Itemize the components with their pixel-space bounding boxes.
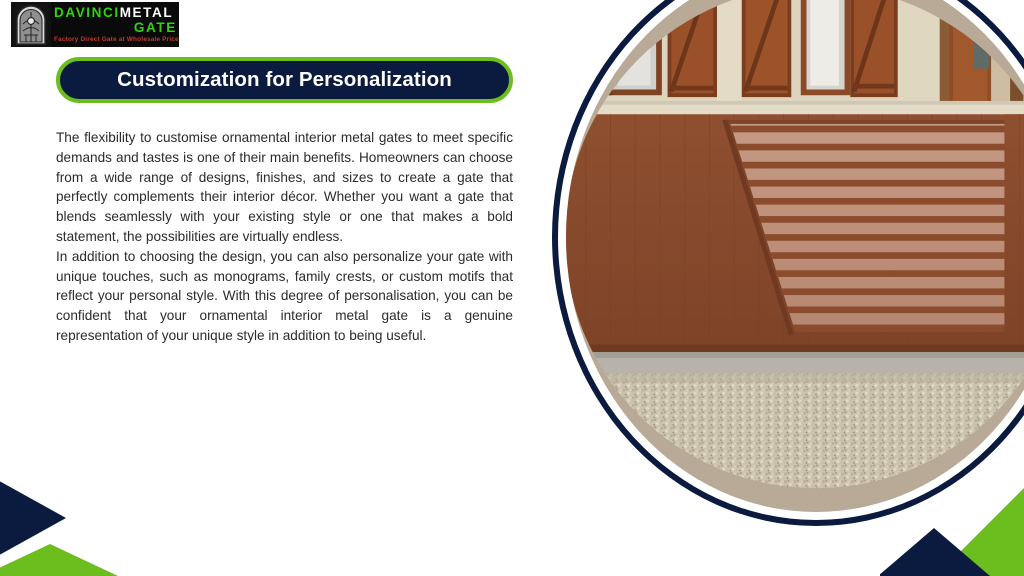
decoration-bottom-right [880,480,1024,576]
gate-photo [566,0,1024,512]
logo-word-davinci: DAVINCI [54,5,120,20]
slide-canvas: DAVINCIMETAL GATE Factory Direct Gate at… [0,0,1024,576]
paragraph-1: The flexibility to customise ornamental … [56,128,513,247]
logo-word-metal: METAL [120,5,174,20]
logo-wordmark: DAVINCIMETAL GATE Factory Direct Gate at… [51,2,179,47]
brand-logo[interactable]: DAVINCIMETAL GATE Factory Direct Gate at… [11,2,179,47]
logo-line-one: DAVINCIMETAL [54,6,179,20]
gate-icon-svg [14,4,48,45]
paragraph-2: In addition to choosing the design, you … [56,247,513,346]
logo-tagline: Factory Direct Gate at Wholesale Price [54,35,179,44]
gate-photo-circle-frame [552,0,1024,526]
body-copy: The flexibility to customise ornamental … [56,128,513,346]
ornamental-arched-gate-icon [11,2,51,47]
decoration-bottom-left [0,438,200,576]
section-title-banner: Customization for Personalization [56,57,513,103]
page-title: Customization for Personalization [117,70,452,91]
gate-photo-illustration [566,0,1024,512]
green-triangle-left [0,544,118,576]
logo-word-gate: GATE [54,20,179,35]
